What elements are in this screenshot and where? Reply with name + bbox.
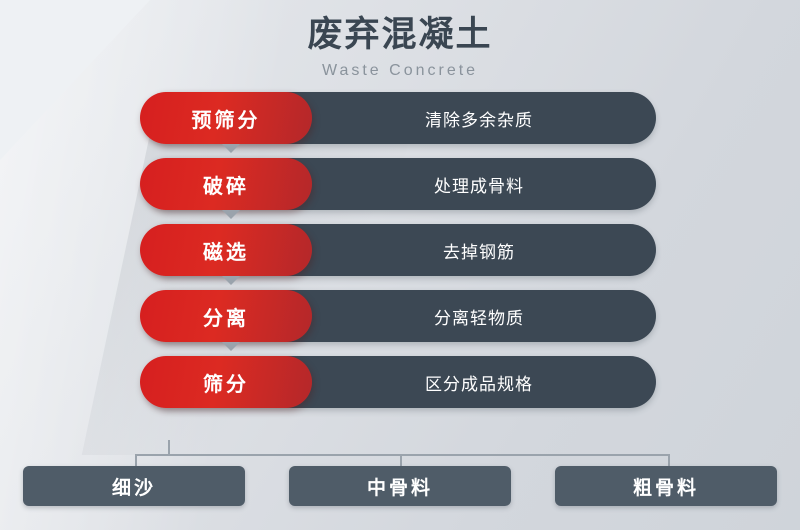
step-description-text: 清除多余杂质 <box>314 92 644 144</box>
output-list: 细沙 中骨料 粗骨料 <box>0 466 800 506</box>
process-step-row: 分离轻物质 分离 <box>144 290 656 342</box>
step-description-text: 处理成骨料 <box>314 158 644 210</box>
page-title: 废弃混凝土 <box>0 14 800 56</box>
step-name-tag: 破碎 <box>140 158 312 210</box>
connector-stem <box>168 440 170 454</box>
page-subtitle: Waste Concrete <box>0 62 800 80</box>
step-name-tag: 磁选 <box>140 224 312 276</box>
process-step-row: 去掉钢筋 磁选 <box>144 224 656 276</box>
process-step-row: 处理成骨料 破碎 <box>144 158 656 210</box>
output-box: 粗骨料 <box>555 466 777 506</box>
connector-horizontal-line <box>135 454 670 456</box>
diagram-header: 废弃混凝土 Waste Concrete <box>0 0 800 80</box>
step-name-tag: 预筛分 <box>140 92 312 144</box>
chevron-down-icon <box>222 342 240 351</box>
process-step-row: 清除多余杂质 预筛分 <box>144 92 656 144</box>
step-name-tag: 筛分 <box>140 356 312 408</box>
chevron-down-icon <box>222 144 240 153</box>
step-description-text: 区分成品规格 <box>314 356 644 408</box>
step-description-text: 分离轻物质 <box>314 290 644 342</box>
output-connector <box>0 440 800 468</box>
process-step-list: 清除多余杂质 预筛分 处理成骨料 破碎 去掉钢筋 磁选 分离轻物质 分离 区分成… <box>0 92 800 408</box>
step-name-tag: 分离 <box>140 290 312 342</box>
step-description-text: 去掉钢筋 <box>314 224 644 276</box>
chevron-down-icon <box>222 210 240 219</box>
process-step-row: 区分成品规格 筛分 <box>144 356 656 408</box>
chevron-down-icon <box>222 276 240 285</box>
output-box: 中骨料 <box>289 466 511 506</box>
output-box: 细沙 <box>23 466 245 506</box>
